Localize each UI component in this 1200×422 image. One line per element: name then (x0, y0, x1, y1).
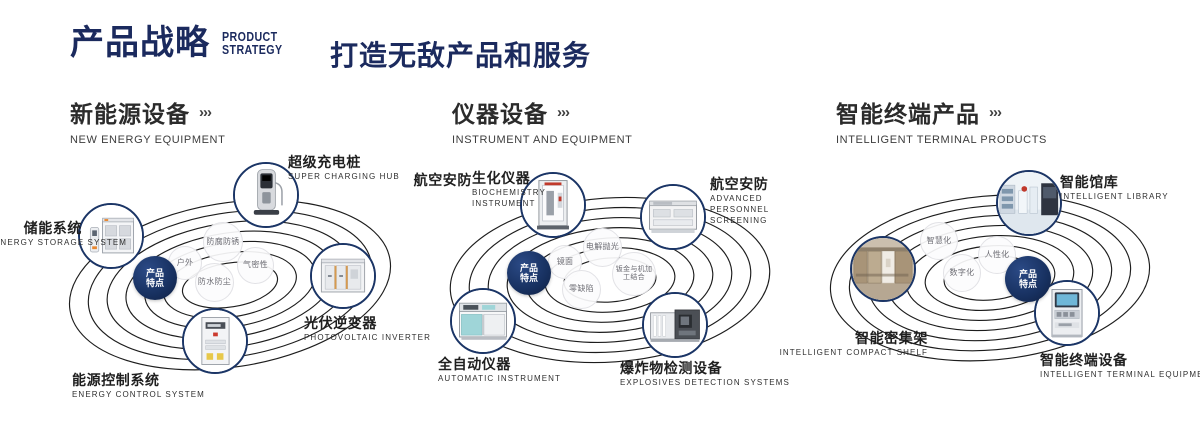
section-heading-instrument: 仪器设备 ››› INSTRUMENT AND EQUIPMENT (452, 95, 632, 146)
feature-bubble: 钣金与机加工结合 (612, 252, 656, 296)
caption-energy-control-system: 能源控制系统 ENERGY CONTROL SYSTEM (72, 372, 222, 401)
caption-biochemistry-instrument: 生化仪器 BIOCHEMISTRY INSTRUMENT (472, 170, 582, 210)
feature-bubble: 数字化 (943, 254, 981, 292)
node-intelligent-compact-shelf[interactable] (850, 236, 916, 302)
section-title-cn: 仪器设备 (452, 95, 548, 129)
chevron-right-icon: ››› (989, 105, 1001, 120)
feature-bubble: 防水防尘 (195, 263, 234, 302)
caption-automatic-instrument: 全自动仪器 AUTOMATIC INSTRUMENT (438, 356, 578, 385)
screening-machine-icon (642, 186, 704, 248)
core-bubble-product-features: 产品 特点 (133, 256, 177, 300)
cluster-intelligent-terminal: 智能馆库 INTELLIGENT LIBRARY 智能密集架 INTELLIGE… (810, 160, 1190, 410)
section-title-cn: 新能源设备 (70, 95, 190, 129)
control-cabinet-icon (184, 310, 246, 372)
caption-intelligent-compact-shelf: 智能密集架 INTELLIGENT COMPACT SHELF (768, 330, 928, 359)
feature-bubble: 气密性 (237, 247, 274, 284)
page-title-en-line2: STRATEGY (222, 43, 283, 56)
caption-aviation-security-left: 航空安防 (376, 172, 472, 188)
node-energy-control-system[interactable] (182, 308, 248, 374)
chevron-right-icon: ››› (557, 105, 569, 120)
pv-inverter-cabinet-icon (312, 245, 374, 307)
section-heading-new-energy: 新能源设备 ››› NEW ENERGY EQUIPMENT (70, 95, 225, 146)
cluster-new-energy: 储能系统 ENERGY STORAGE SYSTEM 超级充电桩 SUPER C… (40, 160, 420, 410)
section-title-en: INSTRUMENT AND EQUIPMENT (452, 134, 632, 146)
core-bubble-product-features: 产品 特点 (507, 251, 551, 295)
caption-intelligent-terminal-equipment: 智能终端设备 INTELLIGENT TERMINAL EQUIPMENT (1040, 352, 1200, 381)
node-automatic-instrument[interactable] (450, 288, 516, 354)
feature-bubble: 零缺陷 (562, 270, 601, 309)
page-title: 产品战略 PRODUCT STRATEGY (70, 26, 296, 60)
smart-library-room-icon (998, 172, 1060, 234)
energy-storage-cabinet-icon (80, 205, 142, 267)
page-title-en: PRODUCT STRATEGY (222, 30, 283, 57)
caption-energy-storage-system: 储能系统 ENERGY STORAGE SYSTEM (0, 220, 82, 249)
section-title-en: NEW ENERGY EQUIPMENT (70, 134, 225, 146)
section-title-cn: 智能终端产品 (836, 95, 980, 129)
node-energy-storage-system[interactable] (78, 203, 144, 269)
page-title-cn: 产品战略 (70, 26, 210, 60)
node-photovoltaic-inverter[interactable] (310, 243, 376, 309)
caption-photovoltaic-inverter: 光伏逆变器 PHOTOVOLTAIC INVERTER (304, 315, 434, 344)
cluster-instrument: 航空安防 生化仪器 BIOCHEMISTRY INSTRUMENT 航空安防 A… (420, 160, 800, 410)
page-title-en-line1: PRODUCT (222, 30, 283, 43)
chevron-right-icon: ››› (199, 105, 211, 120)
feature-bubble: 防腐防锈 (203, 222, 243, 262)
node-advanced-personnel-screening[interactable] (640, 184, 706, 250)
product-strategy-infographic: 产品战略 PRODUCT STRATEGY 打造无敌产品和服务 新能源设备 ››… (0, 0, 1200, 422)
explosives-detector-icon (644, 294, 706, 356)
compact-shelving-icon (852, 238, 914, 300)
feature-bubble: 智慧化 (920, 222, 958, 260)
automatic-instrument-icon (452, 290, 514, 352)
page-subtitle: 打造无敌产品和服务 (330, 34, 591, 74)
caption-intelligent-library: 智能馆库 INTELLIGENT LIBRARY (1060, 174, 1200, 203)
node-intelligent-library[interactable] (996, 170, 1062, 236)
section-heading-intelligent-terminal: 智能终端产品 ››› INTELLIGENT TERMINAL PRODUCTS (836, 95, 1047, 146)
node-explosives-detection-systems[interactable] (642, 292, 708, 358)
section-title-en: INTELLIGENT TERMINAL PRODUCTS (836, 134, 1047, 146)
caption-explosives-detection-systems: 爆炸物检测设备 EXPLOSIVES DETECTION SYSTEMS (620, 360, 790, 389)
core-bubble-product-features: 产品 特点 (1005, 256, 1051, 302)
